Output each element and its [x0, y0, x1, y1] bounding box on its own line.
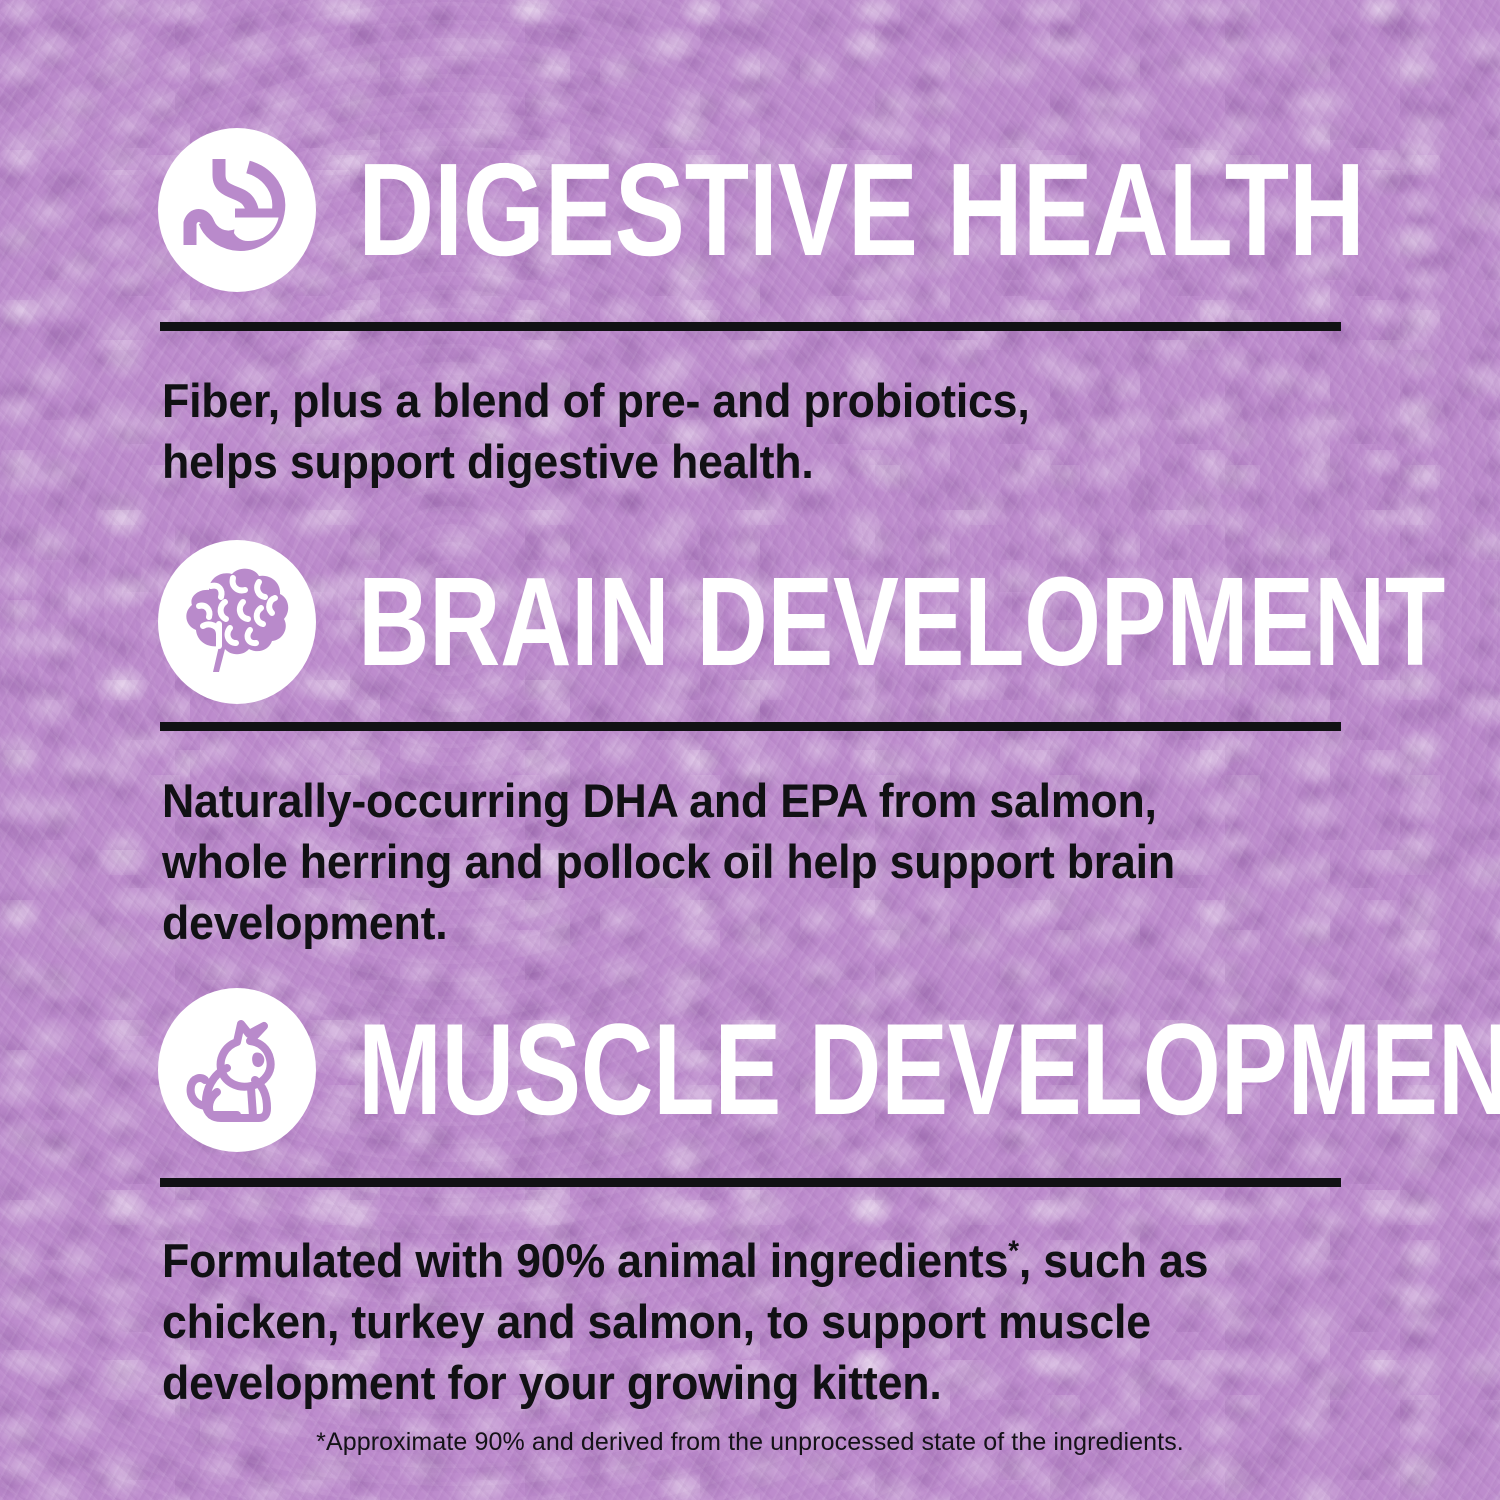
divider-rule-3 — [160, 1178, 1341, 1187]
feature-title-brain: BRAIN DEVELOPMENT — [358, 564, 1445, 680]
feature-body-digestive: Fiber, plus a blend of pre- and probioti… — [162, 370, 1131, 492]
feature-title-muscle: MUSCLE DEVELOPMENT — [358, 1010, 1500, 1130]
feature-body-muscle: Formulated with 90% animal ingredients*,… — [162, 1230, 1302, 1413]
footnote-marker: * — [1008, 1235, 1019, 1267]
feature-title-digestive: DIGESTIVE HEALTH — [358, 149, 1365, 270]
product-feature-panel: DIGESTIVE HEALTH Fiber, plus a blend of … — [0, 0, 1500, 1500]
feature-row-muscle: MUSCLE DEVELOPMENT — [158, 988, 1500, 1152]
feature-body-brain: Naturally-occurring DHA and EPA from sal… — [162, 770, 1293, 953]
content-layer: DIGESTIVE HEALTH Fiber, plus a blend of … — [0, 0, 1500, 1500]
divider-rule-1 — [160, 322, 1341, 331]
footnote-text: *Approximate 90% and derived from the un… — [0, 1428, 1500, 1457]
feature-body-muscle-part1: Formulated with 90% animal ingredients — [162, 1234, 1008, 1287]
divider-rule-2 — [160, 722, 1341, 731]
brain-icon — [158, 540, 316, 704]
cat-icon — [158, 988, 316, 1152]
feature-row-digestive: DIGESTIVE HEALTH — [158, 128, 1500, 292]
feature-row-brain: BRAIN DEVELOPMENT — [158, 540, 1500, 704]
stomach-icon — [158, 128, 316, 292]
